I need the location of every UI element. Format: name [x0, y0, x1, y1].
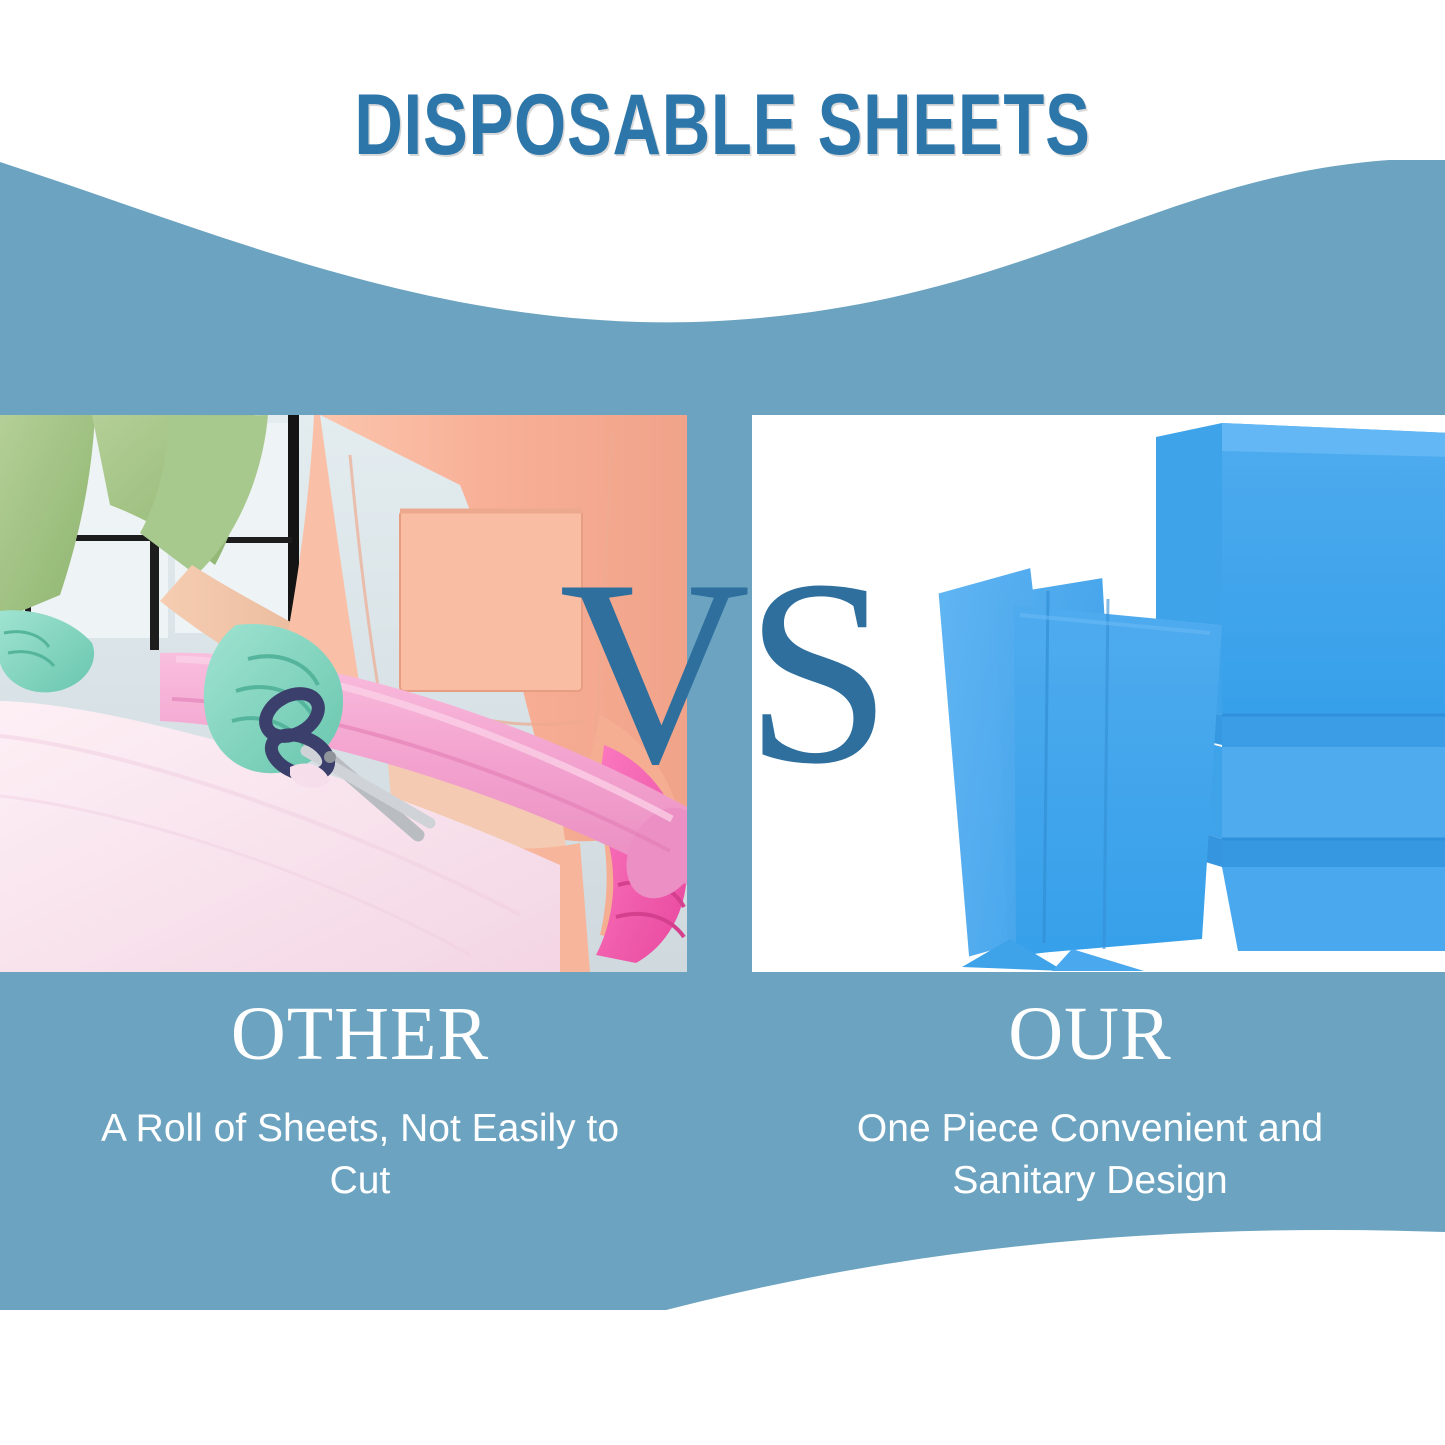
column-description-our: One Piece Convenient and Sanitary Design: [745, 1103, 1435, 1208]
page-title: DISPOSABLE SHEETS: [159, 82, 1286, 168]
infographic-page: DISPOSABLE SHEETS: [0, 0, 1445, 1445]
column-heading-other: OTHER: [20, 995, 700, 1075]
column-heading-our: OUR: [745, 995, 1435, 1075]
versus-label: VS: [0, 540, 1445, 805]
column-other: OTHER A Roll of Sheets, Not Easily to Cu…: [20, 995, 700, 1207]
column-our: OUR One Piece Convenient and Sanitary De…: [745, 995, 1435, 1207]
column-description-other: A Roll of Sheets, Not Easily to Cut: [20, 1103, 700, 1208]
